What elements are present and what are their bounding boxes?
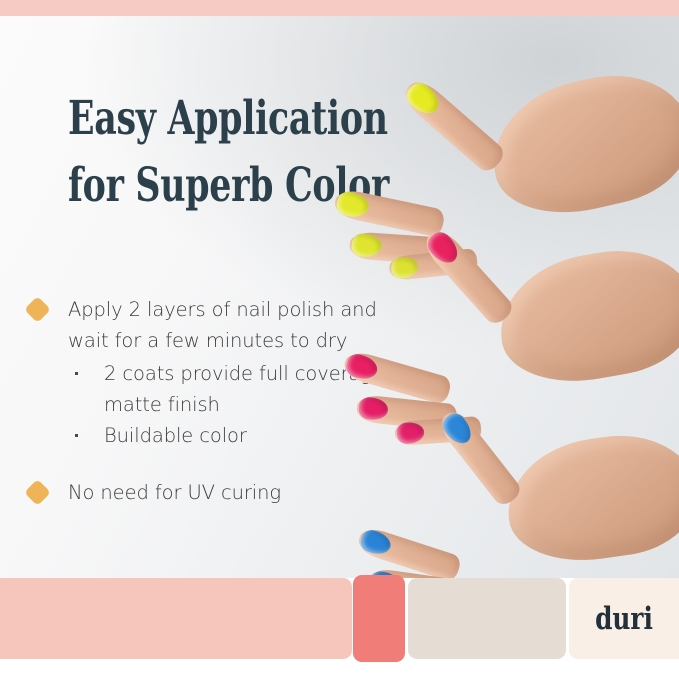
top-accent-bar	[0, 0, 679, 16]
diamond-bullet-icon	[24, 296, 51, 323]
beige-swatch	[408, 578, 566, 659]
list-item: Apply 2 layers of nail polish and wait f…	[28, 294, 428, 356]
page-title: Easy Application for Superb Color	[68, 86, 327, 219]
pink-swatch	[0, 578, 352, 659]
content-stage: Easy Application for Superb Color Apply …	[0, 16, 679, 578]
list-item-label: Apply 2 layers of nail polish and wait f…	[68, 294, 408, 356]
sub-list-item-label: Buildable color	[104, 420, 404, 451]
sub-list-item: Buildable color	[75, 420, 428, 451]
brand-logo: duri	[580, 578, 668, 659]
nail-pink	[423, 228, 463, 269]
bottom-hand	[395, 366, 679, 578]
headline-line-1: Easy Application	[68, 86, 327, 153]
nail-yellow	[351, 233, 383, 258]
finger-middle	[355, 525, 462, 578]
list-item: No need for UV curing	[28, 477, 428, 508]
dot-bullet-icon	[75, 372, 78, 375]
nail-blue	[358, 528, 393, 558]
nail-yellow	[402, 78, 444, 119]
footer-swatch-bar: duri	[0, 578, 679, 679]
finger-index	[420, 225, 516, 328]
palm	[500, 425, 679, 570]
list-item-label: No need for UV curing	[68, 477, 408, 508]
headline-line-2: for Superb Color	[68, 153, 327, 220]
list-spacer	[28, 451, 428, 477]
promo-image: Easy Application for Superb Color Apply …	[0, 0, 679, 679]
nail-yellow	[335, 190, 371, 220]
diamond-bullet-icon	[24, 479, 51, 506]
finger-index	[435, 406, 524, 508]
hands-photo	[395, 16, 679, 578]
dot-bullet-icon	[75, 434, 78, 437]
nail-pink	[358, 397, 389, 422]
nail-blue	[439, 409, 477, 448]
coral-swatch	[353, 575, 405, 662]
finger-index	[399, 75, 508, 175]
